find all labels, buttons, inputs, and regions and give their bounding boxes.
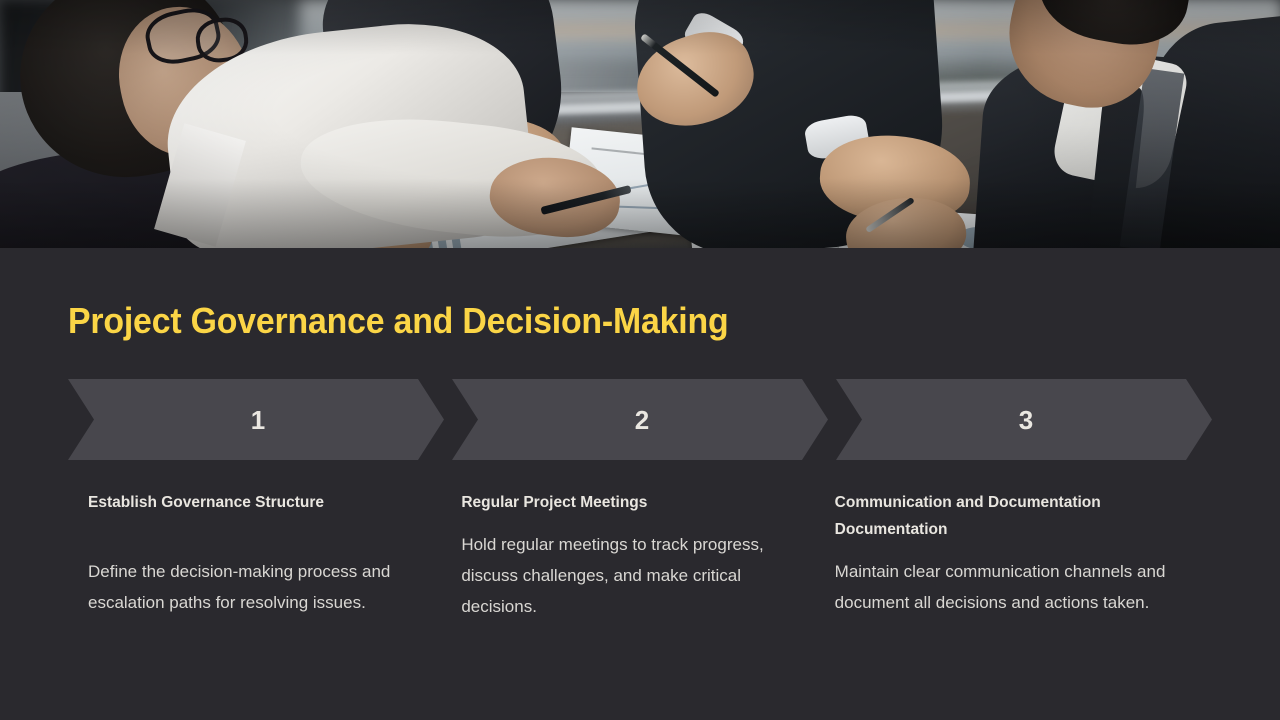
step-heading-3: Communication and Documentation Document… (835, 489, 1188, 543)
hero-image (0, 0, 1280, 248)
slide: Project Governance and Decision-Making 1… (0, 0, 1280, 720)
step-chevron-1[interactable]: 1 (68, 379, 444, 460)
step-column-1: Establish Governance Structure Define th… (88, 489, 461, 622)
step-body-3: Maintain clear communication channels an… (835, 556, 1188, 618)
step-number-2: 2 (635, 407, 649, 433)
step-body-1: Define the decision-making process and e… (88, 556, 441, 618)
step-number-1: 1 (251, 407, 265, 433)
step-chevron-band: 1 2 3 (68, 379, 1212, 460)
slide-title: Project Governance and Decision-Making (68, 300, 728, 342)
step-chevron-3[interactable]: 3 (836, 379, 1212, 460)
step-heading-1: Establish Governance Structure (88, 489, 441, 516)
step-text-columns: Establish Governance Structure Define th… (88, 489, 1208, 622)
step-number-3: 3 (1019, 407, 1033, 433)
step-column-3: Communication and Documentation Document… (835, 489, 1208, 622)
step-body-2: Hold regular meetings to track progress,… (461, 529, 814, 622)
step-heading-2: Regular Project Meetings (461, 489, 814, 516)
step-chevron-2[interactable]: 2 (452, 379, 828, 460)
hero-vignette (0, 0, 1280, 248)
step-column-2: Regular Project Meetings Hold regular me… (461, 489, 834, 622)
